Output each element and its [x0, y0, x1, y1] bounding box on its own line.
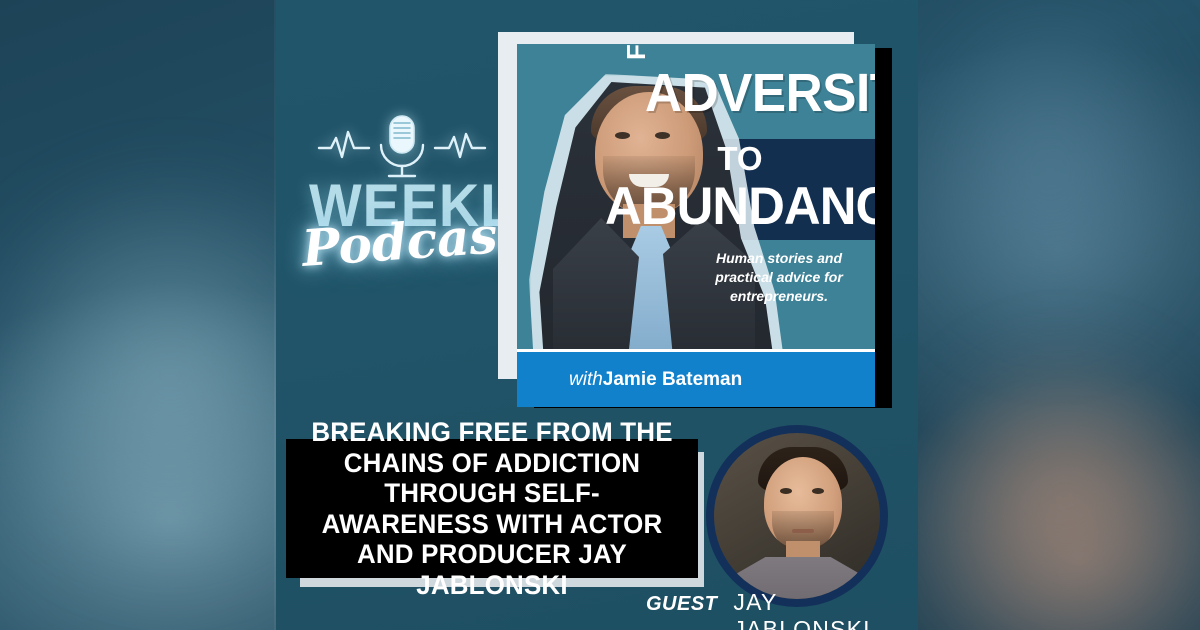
guest-eye-right — [812, 488, 824, 494]
guest-eye-left — [780, 488, 792, 494]
cover-host-bar: withJamie Bateman — [517, 352, 875, 407]
guest-mouth — [792, 529, 814, 533]
host-eye-left — [615, 132, 630, 139]
host-eye-right — [655, 132, 670, 139]
cover-host-prefix: with — [569, 369, 603, 390]
cover-host-name: Jamie Bateman — [603, 369, 742, 390]
background-right-warm-glow — [900, 330, 1200, 630]
episode-title: BREAKING FREE FROM THE CHAINS OF ADDICTI… — [304, 417, 680, 600]
cover-tagline: Human stories and practical advice for e… — [693, 249, 865, 306]
cover-host-credit: withJamie Bateman — [569, 369, 742, 391]
guest-photo-ring — [706, 425, 888, 607]
cover-host-bar-divider — [517, 349, 875, 352]
cover-word-from: FROM — [621, 44, 652, 60]
guest-label: GUEST — [646, 593, 717, 616]
cover-word-to: TO — [613, 142, 867, 175]
background-right-cool-glow — [900, 0, 1200, 360]
episode-title-box: BREAKING FREE FROM THE CHAINS OF ADDICTI… — [286, 439, 698, 578]
guest-credit: GUEST JAY JABLONSKI — [646, 589, 906, 630]
brand-line-podcast: Podcast — [300, 210, 503, 274]
podcast-promo-image: WEEKLY Podcast FROM ADVERSITY TO — [0, 0, 1200, 630]
cover-word-adversity: ADVERSITY — [645, 66, 875, 120]
host-jacket-left — [553, 218, 639, 366]
cover-word-abundance: ABUNDANCE — [605, 180, 875, 233]
weekly-podcast-logo: WEEKLY Podcast — [302, 112, 502, 287]
guest-name: JAY JABLONSKI — [733, 589, 906, 630]
podcast-cover-art: FROM ADVERSITY TO ABUNDANCE Human storie… — [517, 44, 875, 407]
guest-photo — [714, 433, 880, 599]
microphone-waveform-icon — [302, 112, 502, 180]
